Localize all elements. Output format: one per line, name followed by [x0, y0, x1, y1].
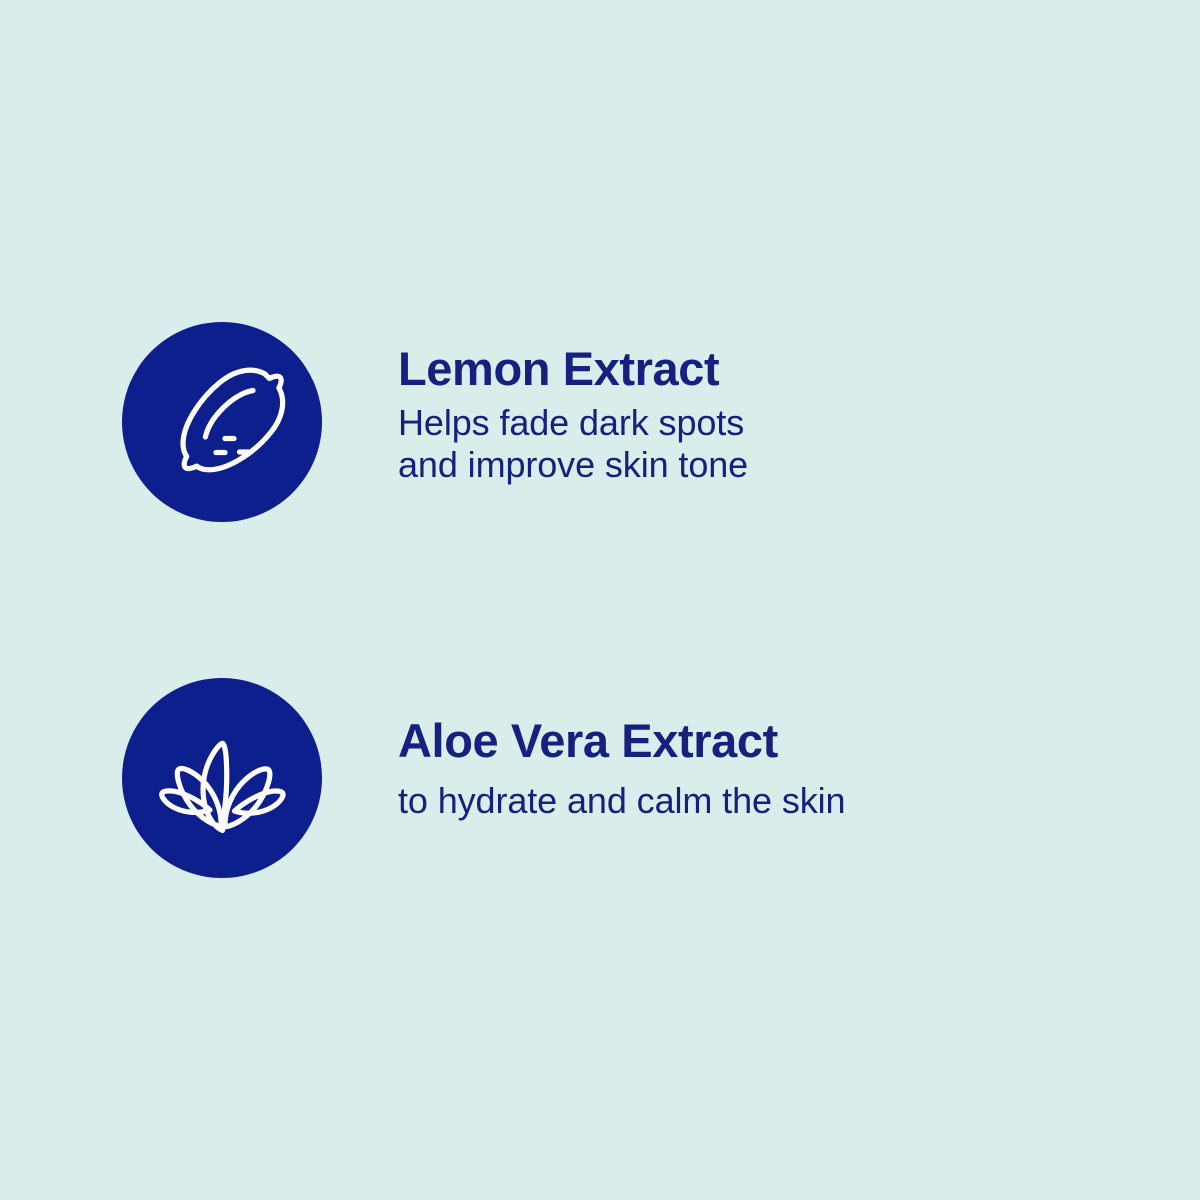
- lemon-icon-badge: [122, 322, 322, 522]
- ingredient-benefits-panel: Lemon Extract Helps fade dark spots and …: [0, 0, 1200, 1200]
- feature-description-lemon: Helps fade dark spots and improve skin t…: [398, 402, 748, 486]
- feature-item-lemon: Lemon Extract Helps fade dark spots and …: [122, 322, 748, 522]
- feature-description-line: Helps fade dark spots: [398, 402, 748, 444]
- aloe-vera-icon: [122, 678, 322, 878]
- feature-title-aloe-vera: Aloe Vera Extract: [398, 716, 845, 766]
- feature-description-aloe-vera: to hydrate and calm the skin: [398, 780, 845, 822]
- feature-description-line: and improve skin tone: [398, 444, 748, 486]
- feature-title-lemon: Lemon Extract: [398, 344, 748, 394]
- aloe-text-block: Aloe Vera Extract to hydrate and calm th…: [398, 678, 845, 822]
- aloe-vera-icon-badge: [122, 678, 322, 878]
- feature-description-line: to hydrate and calm the skin: [398, 780, 845, 822]
- lemon-text-block: Lemon Extract Helps fade dark spots and …: [398, 322, 748, 485]
- lemon-icon: [122, 322, 322, 522]
- feature-item-aloe-vera: Aloe Vera Extract to hydrate and calm th…: [122, 678, 845, 878]
